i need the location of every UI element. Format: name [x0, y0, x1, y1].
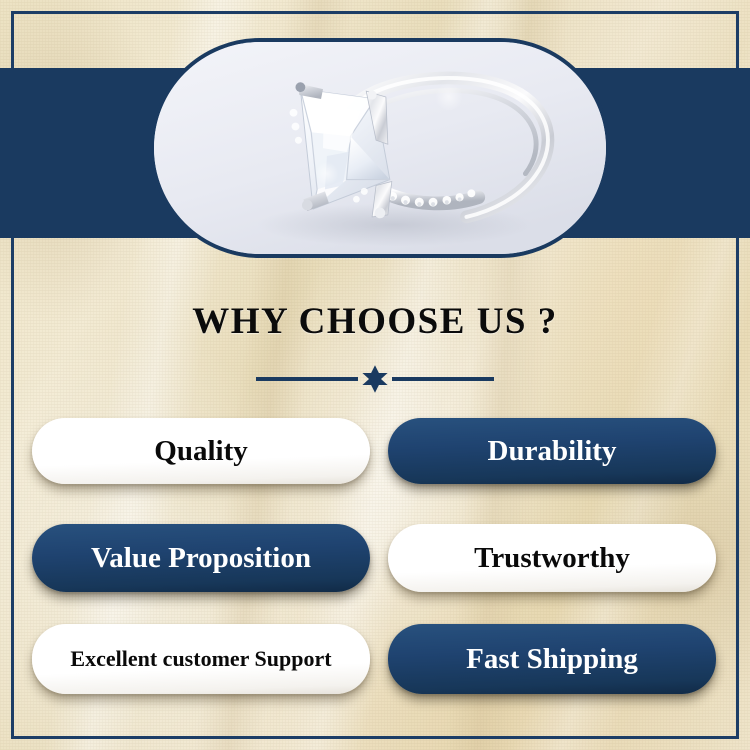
feature-list: Quality Durability Value Proposition Tru… [0, 0, 750, 750]
why-choose-us-infographic: WHY CHOOSE US ? Quality Durability Value… [0, 0, 750, 750]
feature-button-fast-shipping[interactable]: Fast Shipping [388, 624, 716, 694]
feature-button-value-proposition[interactable]: Value Proposition [32, 524, 370, 592]
feature-button-trustworthy[interactable]: Trustworthy [388, 524, 716, 592]
feature-button-durability[interactable]: Durability [388, 418, 716, 484]
feature-button-customer-support[interactable]: Excellent customer Support [32, 624, 370, 694]
feature-button-quality[interactable]: Quality [32, 418, 370, 484]
